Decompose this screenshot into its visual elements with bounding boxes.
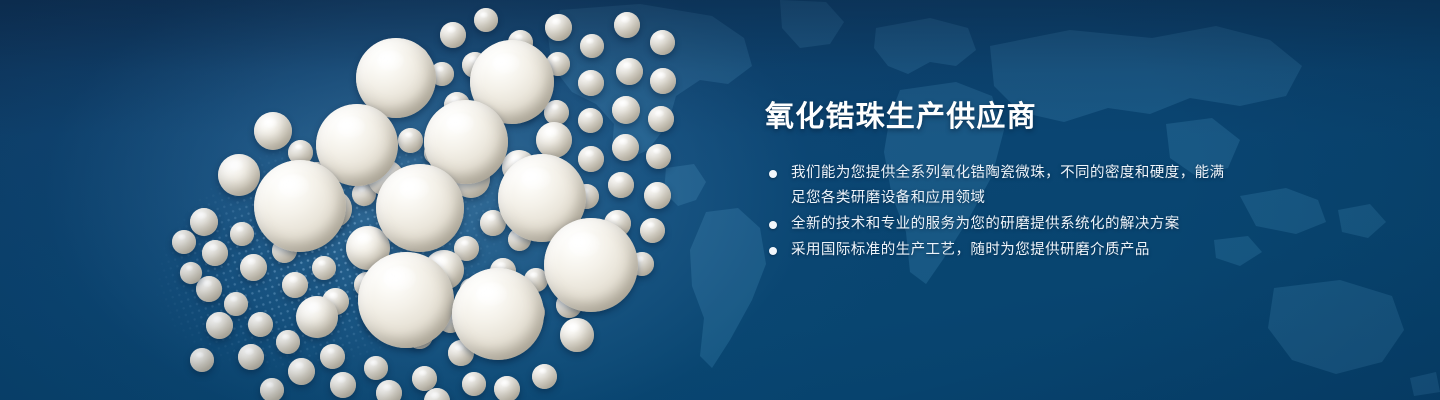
list-item-text: 采用国际标准的生产工艺，随时为您提供研磨介质产品 — [791, 242, 1150, 258]
hero-banner: 氧化锆珠生产供应商 我们能为您提供全系列氧化锆陶瓷微珠，不同的密度和硬度，能满足… — [0, 0, 1440, 400]
list-item: 采用国际标准的生产工艺，随时为您提供研磨介质产品 — [765, 238, 1235, 263]
bullet-dot-icon — [769, 221, 777, 229]
bullet-dot-icon — [769, 170, 777, 178]
feature-bullet-list: 我们能为您提供全系列氧化锆陶瓷微珠，不同的密度和硬度，能满足您各类研磨设备和应用… — [765, 161, 1235, 263]
list-item: 全新的技术和专业的服务为您的研磨提供系统化的解决方案 — [765, 212, 1235, 237]
bullet-dot-icon — [769, 247, 777, 255]
list-item-text: 我们能为您提供全系列氧化锆陶瓷微珠，不同的密度和硬度，能满足您各类研磨设备和应用… — [791, 165, 1225, 206]
list-item: 我们能为您提供全系列氧化锆陶瓷微珠，不同的密度和硬度，能满足您各类研磨设备和应用… — [765, 161, 1235, 211]
list-item-text: 全新的技术和专业的服务为您的研磨提供系统化的解决方案 — [791, 216, 1180, 232]
page-title: 氧化锆珠生产供应商 — [765, 100, 1235, 134]
banner-copy: 氧化锆珠生产供应商 我们能为您提供全系列氧化锆陶瓷微珠，不同的密度和硬度，能满足… — [765, 100, 1235, 264]
